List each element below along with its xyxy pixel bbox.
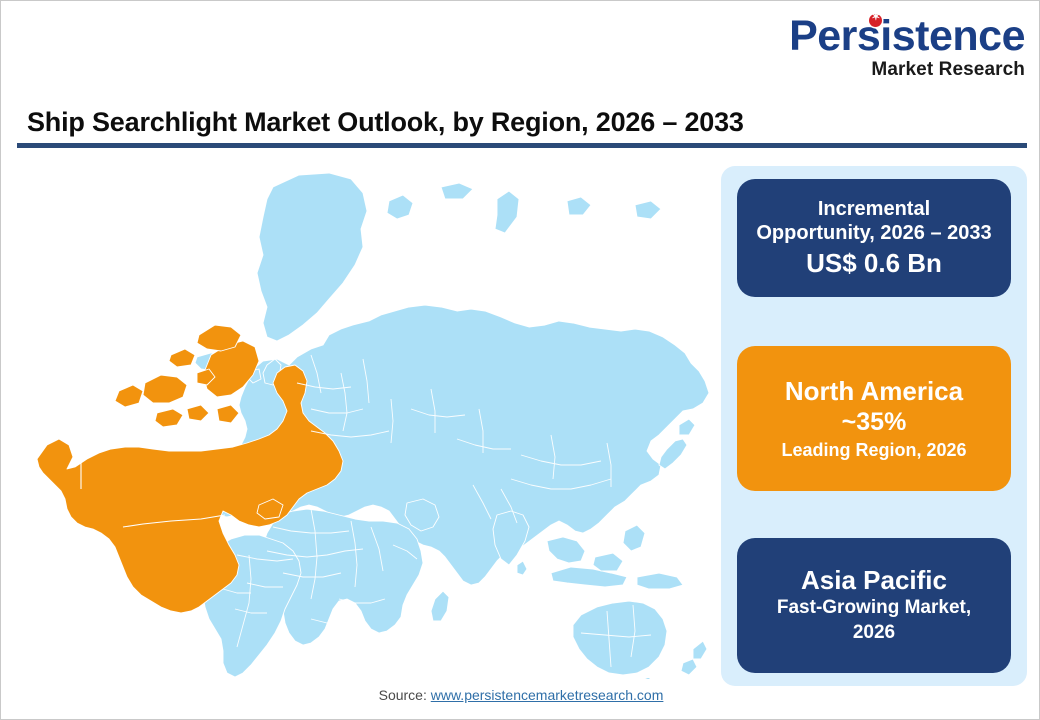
map-region-novaya-zemlya — [495, 191, 519, 233]
logo-wordmark: Persistence — [789, 15, 1025, 58]
map-region-philippines — [623, 525, 645, 551]
map-region-franz-josef — [441, 183, 473, 199]
map-region-arctic-islands-small-c — [155, 409, 183, 427]
card-leading-region-subtitle: Leading Region, 2026 — [781, 439, 966, 462]
map-region-new-zealand — [693, 641, 707, 659]
card-fast-growing-subtitle-line1: Fast-Growing Market, — [777, 596, 971, 621]
title-divider — [17, 143, 1027, 148]
card-incremental-opportunity[interactable]: Incremental Opportunity, 2026 – 2033 US$… — [737, 179, 1011, 297]
map-region-new-siberian — [635, 201, 661, 219]
map-region-arctic-islands-small-e — [217, 405, 239, 423]
map-region-arctic-islands-small-d — [187, 405, 209, 421]
card-incremental-line2: Opportunity, 2026 – 2033 — [756, 221, 991, 245]
map-region-new-guinea — [637, 573, 683, 589]
map-region-japan — [659, 439, 687, 469]
world-map — [11, 159, 721, 679]
card-fast-growing-title: Asia Pacific — [801, 565, 947, 596]
world-map-svg — [11, 159, 721, 679]
card-leading-region-value: ~35% — [842, 407, 907, 438]
map-region-greenland — [257, 173, 367, 341]
stats-panel: Incremental Opportunity, 2026 – 2033 US$… — [721, 166, 1027, 686]
card-fast-growing-subtitle-line2: 2026 — [853, 621, 895, 646]
map-region-australia — [573, 601, 667, 675]
map-region-new-zealand-south — [681, 659, 697, 675]
map-region-tasmania — [639, 677, 653, 679]
card-incremental-line1: Incremental — [818, 197, 930, 221]
map-region-borneo — [593, 553, 623, 571]
page-title: Ship Searchlight Market Outlook, by Regi… — [27, 107, 744, 138]
map-region-victoria-island — [143, 375, 187, 403]
card-leading-region[interactable]: North America ~35% Leading Region, 2026 — [737, 346, 1011, 491]
map-region-svalbard — [387, 195, 413, 219]
map-region-severnaya — [567, 197, 591, 215]
card-incremental-value: US$ 0.6 Bn — [806, 247, 942, 280]
map-region-southeast-asia — [547, 537, 585, 563]
logo-wordmark-text: Persistence — [789, 12, 1025, 60]
source-link[interactable]: www.persistencemarketresearch.com — [431, 687, 664, 703]
red-star-dot-icon — [869, 14, 882, 27]
infographic-page: Persistence Market Research Ship Searchl… — [0, 0, 1040, 720]
map-region-ellesmere — [197, 325, 241, 351]
map-region-japan-north — [679, 419, 695, 435]
company-logo: Persistence Market Research — [789, 15, 1025, 79]
source-footer: Source: www.persistencemarketresearch.co… — [1, 687, 1040, 703]
logo-tagline: Market Research — [789, 60, 1025, 79]
source-label: Source: — [379, 687, 431, 703]
card-fast-growing-market[interactable]: Asia Pacific Fast-Growing Market, 2026 — [737, 538, 1011, 673]
map-region-madagascar — [431, 591, 449, 621]
map-region-sri-lanka — [517, 561, 527, 575]
map-region-banks-island — [115, 385, 143, 407]
card-leading-region-title: North America — [785, 376, 963, 407]
map-region-arctic-islands-small-a — [169, 349, 195, 367]
